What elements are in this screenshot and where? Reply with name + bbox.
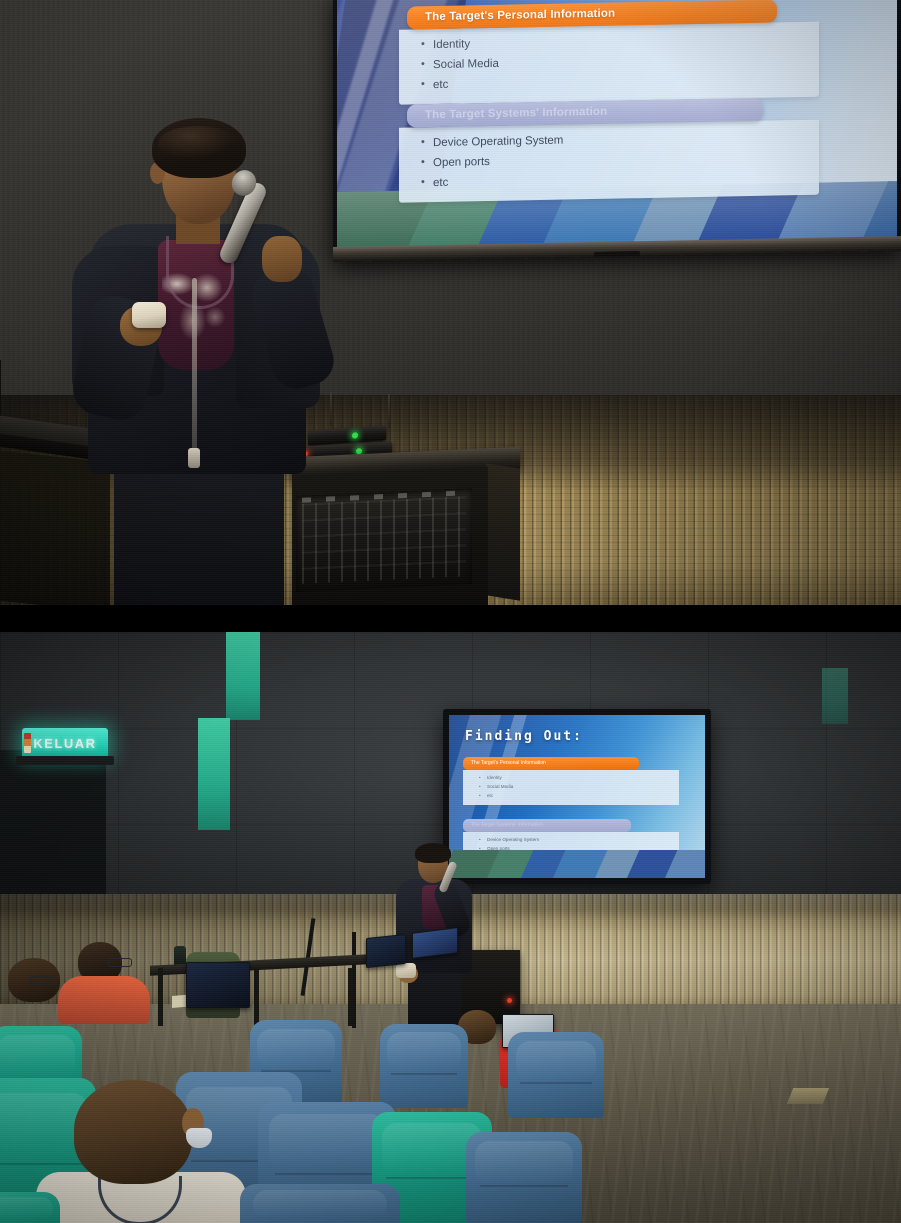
exit-sign-label: KELUAR xyxy=(33,736,96,751)
panel-divider xyxy=(0,605,901,632)
presenter-hoodie-zipper xyxy=(192,278,197,453)
laptop xyxy=(186,962,250,1008)
presentation-clicker-wide xyxy=(396,963,416,978)
attendee-head xyxy=(74,1080,192,1184)
slide-section-2-body: Device Operating System Open ports etc xyxy=(399,120,819,203)
slide-section-systems-information: The Target Systems' Information Device O… xyxy=(399,97,819,203)
av-table-side xyxy=(486,463,520,600)
exit-sign-box: KELUAR xyxy=(22,728,108,758)
auditorium-seat xyxy=(380,1024,468,1108)
presenter-closeup xyxy=(66,118,344,605)
slide-section-personal-information: The Target's Personal Information Identi… xyxy=(399,0,819,105)
attendee-foreground xyxy=(36,1080,266,1223)
exit-sign-mount xyxy=(16,756,114,765)
photo-panel-top: The Target's Personal Information Identi… xyxy=(0,0,901,605)
wall-accent-stripe xyxy=(822,668,848,724)
presentation-screen-closeup: The Target's Personal Information Identi… xyxy=(333,0,901,262)
desk-leg xyxy=(254,968,259,1026)
auditorium-seat xyxy=(466,1132,582,1223)
presentation-clicker xyxy=(132,302,166,328)
auditorium-seat xyxy=(0,1192,60,1223)
desk-leg xyxy=(158,968,163,1026)
led-green-icon xyxy=(352,432,358,438)
wall-accent-stripe xyxy=(198,718,230,830)
wall-accent-stripe xyxy=(226,632,260,720)
led-red-icon xyxy=(507,998,512,1003)
screen-face: The Target's Personal Information Identi… xyxy=(337,0,897,248)
exit-sign: KELUAR xyxy=(22,728,108,758)
av-tech-desk xyxy=(150,932,380,1028)
glasses-icon xyxy=(108,958,132,967)
desk-leg xyxy=(348,968,353,1026)
slide-section-1-body: Identity Social Media etc xyxy=(399,22,819,105)
laptop xyxy=(366,934,406,968)
presenter-zipper-pull xyxy=(188,448,200,468)
glasses-icon xyxy=(30,976,54,985)
presenter-hair xyxy=(152,118,246,178)
antenna-icon xyxy=(388,394,390,428)
attendee-orange-shirt xyxy=(58,976,150,1024)
photo-collage: The Target's Personal Information Identi… xyxy=(0,0,901,1223)
floor-outlet-box xyxy=(787,1088,829,1104)
auditorium-seat xyxy=(240,1184,400,1223)
auditorium-seat xyxy=(508,1032,604,1118)
face-mask xyxy=(186,1128,212,1148)
presenter-hair-wide xyxy=(415,843,451,863)
presenter-hand-right xyxy=(262,236,302,282)
photo-panel-bottom: KELUAR Finding Out: The Target's Persona… xyxy=(0,632,901,1223)
exit-sign-indicators xyxy=(24,733,31,753)
